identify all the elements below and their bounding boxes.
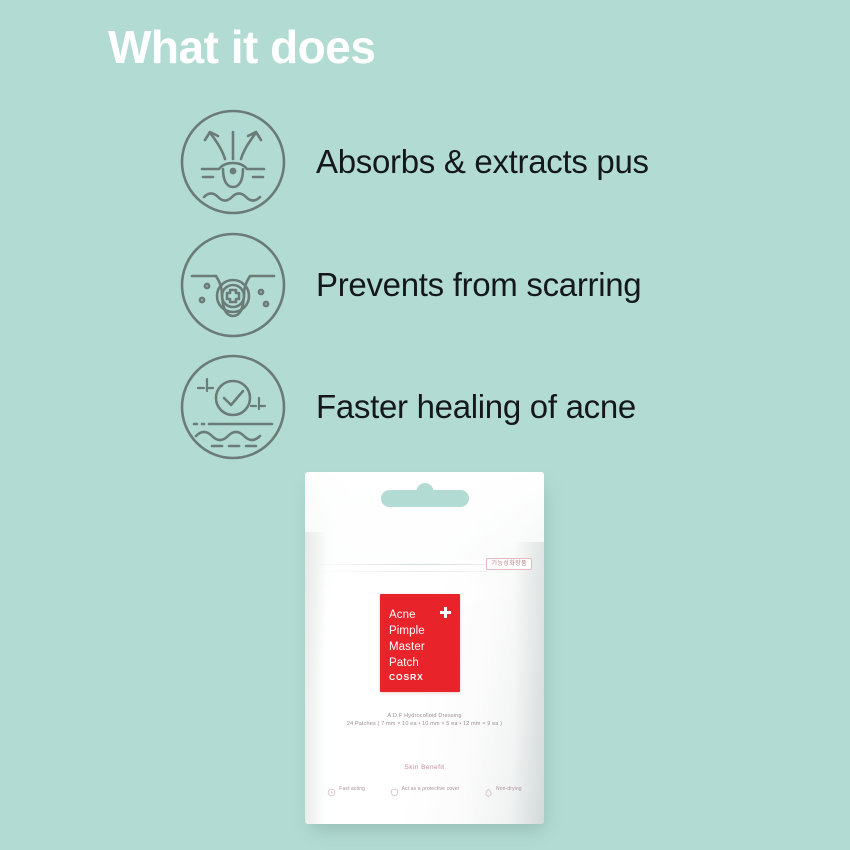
product-label: Acne Pimple Master Patch COSRX [380,594,460,692]
medical-cross-icon [440,607,451,618]
korean-certification-badge: 기능성화장품 [486,558,532,570]
package-seal-line-secondary [315,571,534,572]
benefit-label: Prevents from scarring [316,266,641,304]
pore-medical-cross-icon [178,230,288,340]
page-title: What it does [108,22,375,73]
droplet-icon [484,784,493,793]
hang-hole [381,490,469,507]
benefit-label: Faster healing of acne [316,388,636,426]
benefit-label: Absorbs & extracts pus [316,143,649,181]
feature-item: Non-drying [484,784,522,793]
feature-item: Act as a protective cover [390,784,460,793]
package-edge-right [514,542,544,824]
feature-label: Fast acting [339,786,365,792]
checkmark-smooth-skin-icon [178,352,288,462]
product-name-line: Acne [389,608,425,624]
feature-item: Fast acting [327,784,365,793]
benefit-row-prevents-scarring: Prevents from scarring [178,230,641,340]
package-front: 기능성화장품 Acne Pimple Master Patch COSRX A.… [305,472,544,824]
package-edge-left [305,532,327,824]
benefit-row-absorbs: Absorbs & extracts pus [178,107,649,217]
product-name-line: Patch [389,656,425,672]
product-name-line: Master [389,640,425,656]
spec-patch-count: 24 Patches ( 7 mm × 10 ea • 10 mm × 5 ea… [305,720,544,728]
shield-patch-icon [390,784,399,793]
product-name: Acne Pimple Master Patch [389,608,425,671]
benefit-row-faster-healing: Faster healing of acne [178,352,636,462]
feature-label: Non-drying [496,786,522,792]
skin-benefit-label: Skin Benefit [305,764,544,771]
package-feature-row: Fast acting Act as a protective cover [315,784,534,793]
package-sheen-lower [313,672,463,822]
product-benefits-graphic: What it does [0,0,850,850]
product-specification: A.D.F Hydrocolloid Dressing 24 Patches (… [305,712,544,729]
product-name-line: Pimple [389,624,425,640]
spec-dressing-type: A.D.F Hydrocolloid Dressing [305,712,544,720]
brand-name: COSRX [389,672,424,682]
product-package: 기능성화장품 Acne Pimple Master Patch COSRX A.… [305,472,550,830]
pore-extraction-arrows-icon [178,107,288,217]
clock-icon [327,784,336,793]
feature-label: Act as a protective cover [402,786,460,792]
